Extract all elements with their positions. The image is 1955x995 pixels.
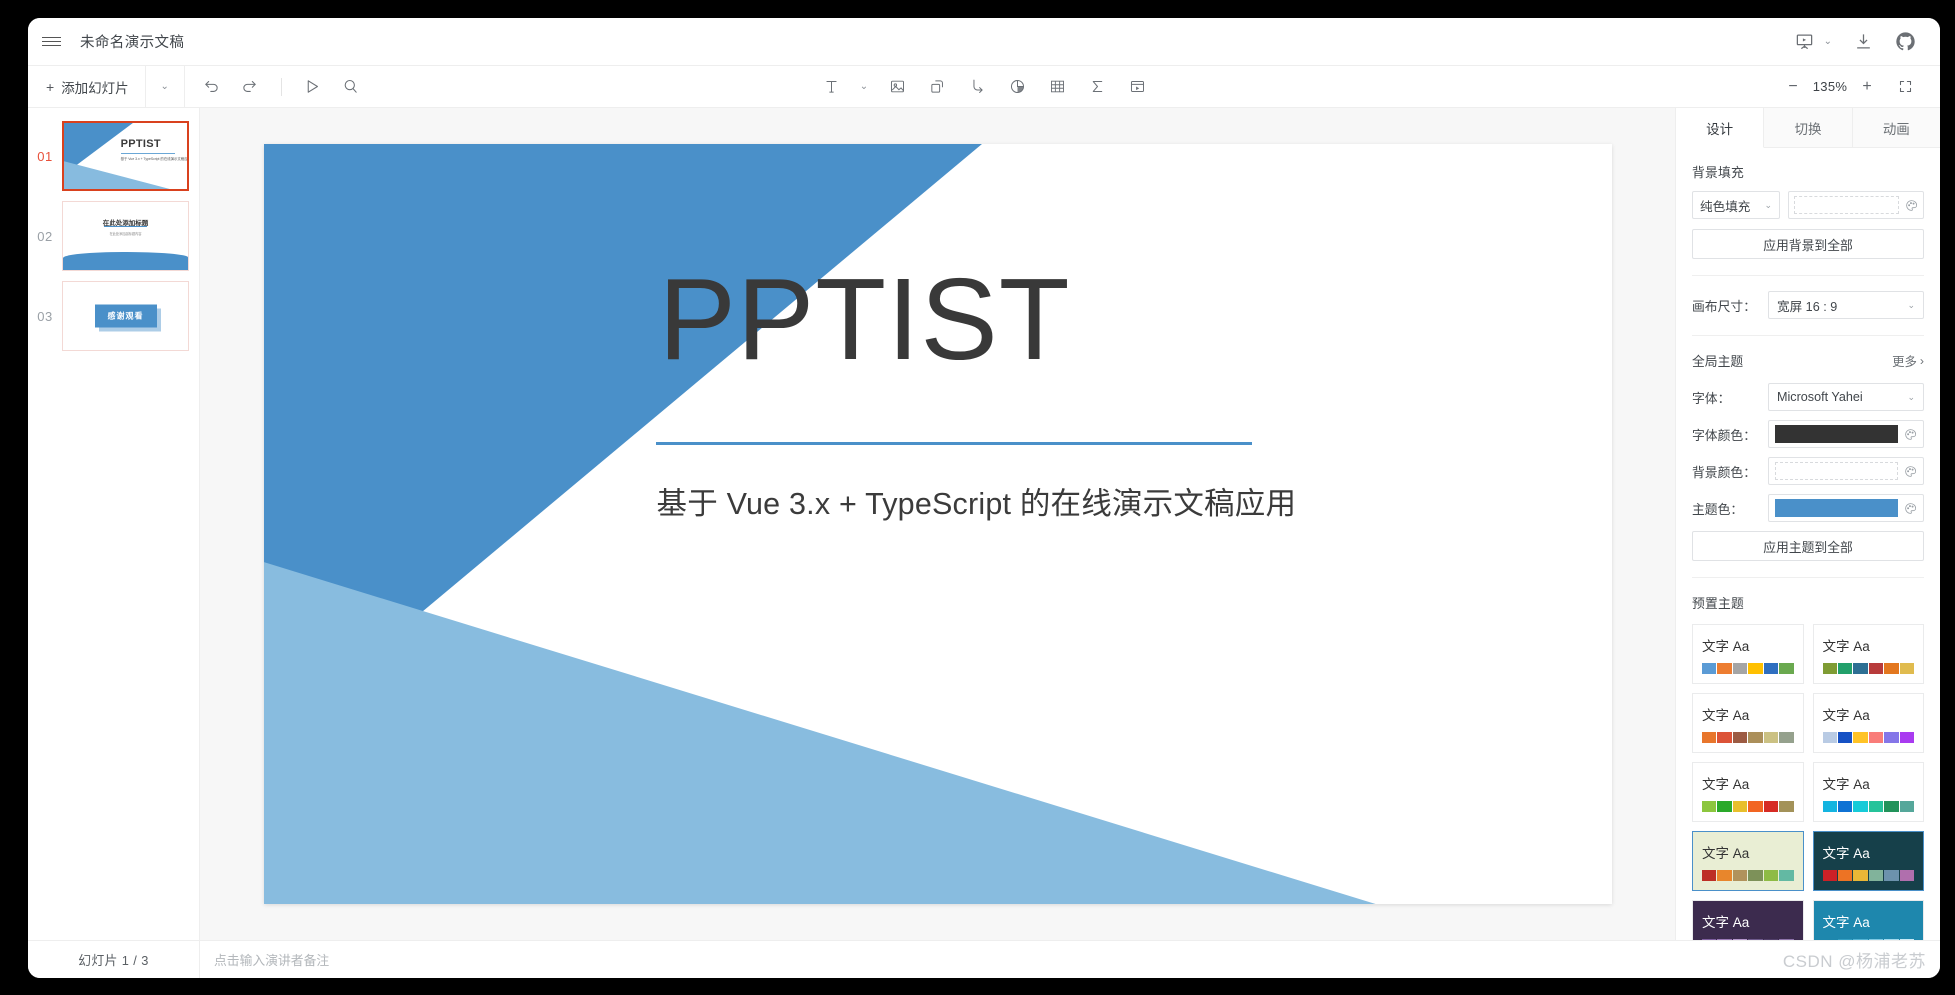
theme-font-label: 字体：	[1692, 388, 1768, 407]
color-swatch	[1869, 732, 1883, 743]
speaker-notes-input[interactable]: 点击输入演讲者备注	[200, 950, 1940, 969]
preset-theme-sample-text: 文字 Aa	[1823, 704, 1915, 724]
preset-theme-color-swatches	[1823, 732, 1915, 743]
color-palette-icon[interactable]	[1903, 502, 1917, 515]
status-bar: 幻灯片 1 / 3 点击输入演讲者备注	[28, 940, 1940, 978]
color-swatch	[1853, 663, 1867, 674]
divider	[1692, 577, 1924, 578]
color-swatch	[1884, 801, 1898, 812]
slide-thumbnail-panel[interactable]: 01 PPTIST 基于 Vue 3.x + TypeScript 的在线演示文…	[28, 108, 200, 940]
preset-theme-sample-text: 文字 Aa	[1823, 635, 1915, 655]
slide-thumbnail-1[interactable]: 01 PPTIST 基于 Vue 3.x + TypeScript 的在线演示文…	[28, 116, 199, 196]
history-group	[185, 66, 368, 108]
color-swatch	[1853, 801, 1867, 812]
color-swatch	[1748, 732, 1762, 743]
preset-theme-color-swatches	[1702, 663, 1794, 674]
preset-theme-sample-text: 文字 Aa	[1823, 911, 1915, 931]
preset-theme-card[interactable]: 文字 Aa	[1813, 693, 1925, 753]
theme-font-color-label: 字体颜色：	[1692, 425, 1768, 444]
preset-theme-sample-text: 文字 Aa	[1823, 842, 1915, 862]
slide-thumbnail-3[interactable]: 03 感谢观看	[28, 276, 199, 356]
color-swatch	[1869, 663, 1883, 674]
app-header: 未命名演示文稿 ⌄	[28, 18, 1940, 66]
canvas-size-value: 宽屏 16 : 9	[1777, 296, 1837, 315]
header-actions: ⌄	[1794, 31, 1926, 53]
color-swatch	[1884, 870, 1898, 881]
add-slide-label: 添加幻灯片	[61, 77, 129, 97]
preset-theme-card[interactable]: 文字 Aa	[1692, 624, 1804, 684]
slide-subtitle-text[interactable]: 基于 Vue 3.x + TypeScript 的在线演示文稿应用	[657, 479, 1297, 523]
chevron-down-icon: ⌄	[1764, 200, 1772, 211]
preset-theme-color-swatches	[1702, 939, 1794, 940]
color-swatch	[1764, 939, 1778, 940]
color-palette-icon[interactable]	[1903, 465, 1917, 478]
hamburger-icon[interactable]	[28, 18, 74, 66]
undo-arrow-icon[interactable]	[195, 66, 229, 108]
theme-font-select[interactable]: Microsoft Yahei ⌄	[1768, 383, 1924, 411]
slide-thumbnail-preview[interactable]: PPTIST 基于 Vue 3.x + TypeScript 的在线演示文稿应用	[62, 121, 189, 191]
theme-accent-color-label: 主题色：	[1692, 499, 1768, 518]
plus-icon: +	[46, 79, 54, 95]
color-swatch	[1733, 939, 1747, 940]
color-swatch	[1717, 939, 1731, 940]
color-swatch	[1838, 870, 1852, 881]
canvas-area[interactable]: PPTIST 基于 Vue 3.x + TypeScript 的在线演示文稿应用	[200, 108, 1675, 940]
color-swatch	[1838, 801, 1852, 812]
zoom-out-button[interactable]: −	[1780, 74, 1806, 100]
background-fill-type-select[interactable]: 纯色填充 ⌄	[1692, 191, 1780, 219]
color-swatch	[1900, 732, 1914, 743]
color-swatch	[1702, 801, 1716, 812]
slide-number: 01	[28, 149, 62, 164]
preset-theme-color-swatches	[1702, 870, 1794, 881]
preset-themes-label: 预置主题	[1692, 593, 1924, 612]
preset-theme-card[interactable]: 文字 Aa	[1813, 831, 1925, 891]
design-panel-content: 背景填充 纯色填充 ⌄	[1676, 148, 1940, 940]
theme-bg-color-label: 背景颜色：	[1692, 462, 1768, 481]
theme-font-color-picker[interactable]	[1768, 420, 1924, 448]
main-toolbar: + 添加幻灯片 ⌄	[28, 66, 1940, 108]
zoom-level-value[interactable]: 135%	[1810, 79, 1850, 94]
slide-title-text[interactable]: PPTIST	[659, 256, 1071, 384]
divider	[1692, 335, 1924, 336]
color-swatch	[1838, 732, 1852, 743]
color-palette-icon[interactable]	[1904, 199, 1918, 212]
table-grid-icon[interactable]	[1044, 66, 1070, 108]
color-swatch	[1764, 801, 1778, 812]
color-swatch	[1823, 870, 1837, 881]
media-video-icon[interactable]	[1124, 66, 1150, 108]
theme-accent-color-swatch	[1775, 499, 1898, 517]
preset-theme-color-swatches	[1823, 939, 1915, 940]
play-triangle-icon[interactable]	[296, 66, 330, 108]
present-dropdown-chevron-icon[interactable]: ⌄	[1824, 36, 1832, 47]
toolbar-divider	[281, 78, 282, 96]
zoom-controls: − 135% +	[1780, 74, 1940, 100]
preset-theme-color-swatches	[1823, 801, 1915, 812]
preset-theme-sample-text: 文字 Aa	[1702, 635, 1794, 655]
color-swatch	[1884, 732, 1898, 743]
github-icon[interactable]	[1894, 31, 1916, 53]
line-arrow-icon[interactable]	[964, 66, 990, 108]
add-slide-button[interactable]: + 添加幻灯片	[28, 66, 145, 108]
color-swatch	[1884, 663, 1898, 674]
tab-design[interactable]: 设计	[1676, 108, 1764, 148]
thumb-rule	[121, 153, 175, 154]
zoom-in-button[interactable]: +	[1854, 74, 1880, 100]
color-swatch	[1779, 939, 1793, 940]
insert-tools-group: ⌄	[818, 66, 1150, 108]
preset-theme-sample-text: 文字 Aa	[1702, 911, 1794, 931]
color-swatch	[1717, 732, 1731, 743]
color-swatch	[1733, 663, 1747, 674]
background-fill-type-value: 纯色填充	[1700, 196, 1750, 215]
apply-background-to-all-button[interactable]: 应用背景到全部	[1692, 229, 1924, 259]
color-swatch	[1702, 732, 1716, 743]
slide-divider-line[interactable]	[656, 442, 1252, 445]
preset-theme-sample-text: 文字 Aa	[1702, 704, 1794, 724]
thumb-subtitle: 基于 Vue 3.x + TypeScript 的在线演示文稿应用	[121, 156, 189, 161]
theme-bg-color-picker[interactable]	[1768, 457, 1924, 485]
theme-bg-color-row: 背景颜色：	[1692, 457, 1924, 485]
fullscreen-fit-icon[interactable]	[1892, 74, 1918, 100]
color-swatch	[1779, 801, 1793, 812]
text-dropdown-chevron-icon[interactable]: ⌄	[858, 66, 870, 108]
color-swatch	[1733, 801, 1747, 812]
color-swatch	[1748, 870, 1762, 881]
color-swatch	[1900, 663, 1914, 674]
slide-thumbnail-preview[interactable]: 感谢观看	[62, 281, 189, 351]
background-fill-label: 背景填充	[1692, 162, 1924, 181]
color-swatch	[1748, 801, 1762, 812]
theme-bg-color-swatch	[1775, 462, 1898, 480]
preset-theme-sample-text: 文字 Aa	[1823, 773, 1915, 793]
chevron-down-icon: ⌄	[1907, 392, 1915, 403]
download-icon[interactable]	[1852, 31, 1874, 53]
color-swatch	[1869, 939, 1883, 940]
sigma-formula-icon[interactable]	[1084, 66, 1110, 108]
color-swatch	[1717, 663, 1731, 674]
color-swatch	[1900, 939, 1914, 940]
color-swatch	[1779, 732, 1793, 743]
preset-theme-sample-text: 文字 Aa	[1702, 773, 1794, 793]
theme-font-row: 字体： Microsoft Yahei ⌄	[1692, 383, 1924, 411]
background-fill-row: 纯色填充 ⌄	[1692, 191, 1924, 219]
color-swatch	[1823, 801, 1837, 812]
color-swatch	[1853, 939, 1867, 940]
color-swatch	[1869, 870, 1883, 881]
canvas-size-select[interactable]: 宽屏 16 : 9 ⌄	[1768, 291, 1924, 319]
search-magnifier-icon[interactable]	[334, 66, 368, 108]
divider	[1692, 275, 1924, 276]
color-swatch	[1702, 663, 1716, 674]
theme-font-color-row: 字体颜色：	[1692, 420, 1924, 448]
color-swatch	[1900, 801, 1914, 812]
thumb-title: 感谢观看	[95, 305, 157, 328]
pie-chart-icon[interactable]	[1004, 66, 1030, 108]
tab-animation[interactable]: 动画	[1853, 108, 1940, 147]
theme-font-color-swatch	[1775, 425, 1898, 443]
color-swatch	[1779, 870, 1793, 881]
slide-thumbnail-2[interactable]: 02 在此处添加标题 在此处添加副标题内容	[28, 196, 199, 276]
theme-font-value: Microsoft Yahei	[1777, 390, 1863, 404]
color-swatch	[1823, 663, 1837, 674]
slide-canvas[interactable]: PPTIST 基于 Vue 3.x + TypeScript 的在线演示文稿应用	[264, 144, 1612, 904]
color-swatch	[1764, 663, 1778, 674]
shapes-icon[interactable]	[924, 66, 950, 108]
slide-counter[interactable]: 幻灯片 1 / 3	[28, 941, 200, 979]
color-swatch	[1702, 939, 1716, 940]
color-swatch	[1838, 663, 1852, 674]
preset-theme-color-swatches	[1823, 663, 1915, 674]
slide-number: 03	[28, 309, 62, 324]
color-swatch	[1764, 870, 1778, 881]
color-swatch	[1733, 870, 1747, 881]
color-swatch	[1884, 939, 1898, 940]
global-theme-label: 全局主题	[1692, 351, 1743, 370]
preset-themes-grid: 文字 Aa文字 Aa文字 Aa文字 Aa文字 Aa文字 Aa文字 Aa文字 Aa…	[1692, 624, 1924, 940]
theme-accent-color-picker[interactable]	[1768, 494, 1924, 522]
color-swatch	[1900, 870, 1914, 881]
preset-theme-sample-text: 文字 Aa	[1702, 842, 1794, 862]
thumb-title: 在此处添加标题	[63, 217, 188, 227]
global-theme-more-button[interactable]: 更多 ›	[1892, 352, 1924, 370]
preset-theme-card[interactable]: 文字 Aa	[1813, 624, 1925, 684]
slide-thumbnail-preview[interactable]: 在此处添加标题 在此处添加副标题内容	[62, 201, 189, 271]
present-screen-icon[interactable]	[1794, 31, 1816, 53]
slide-number: 02	[28, 229, 62, 244]
color-swatch	[1823, 939, 1837, 940]
right-side-panel: 设计 切换 动画 背景填充 纯色填充 ⌄	[1675, 108, 1940, 940]
document-title[interactable]: 未命名演示文稿	[74, 31, 184, 52]
color-swatch	[1733, 732, 1747, 743]
thumb-rule	[104, 226, 147, 227]
preset-theme-card[interactable]: 文字 Aa	[1692, 693, 1804, 753]
preset-theme-color-swatches	[1702, 801, 1794, 812]
app-window: 未命名演示文稿 ⌄ + 添加幻灯	[28, 18, 1940, 978]
preset-theme-color-swatches	[1702, 732, 1794, 743]
color-swatch	[1869, 801, 1883, 812]
thumb-subtitle: 在此处添加副标题内容	[63, 231, 188, 236]
app-body: 01 PPTIST 基于 Vue 3.x + TypeScript 的在线演示文…	[28, 108, 1940, 940]
preset-theme-card[interactable]: 文字 Aa	[1692, 900, 1804, 940]
thumb-shape-wave	[63, 252, 188, 270]
color-swatch	[1748, 939, 1762, 940]
image-icon[interactable]	[884, 66, 910, 108]
color-swatch	[1853, 870, 1867, 881]
canvas-size-row: 画布尺寸： 宽屏 16 : 9 ⌄	[1692, 291, 1924, 319]
color-swatch	[1853, 732, 1867, 743]
chevron-right-icon: ›	[1920, 354, 1924, 368]
preset-theme-color-swatches	[1823, 870, 1915, 881]
preset-theme-card[interactable]: 文字 Aa	[1692, 762, 1804, 822]
chevron-down-icon: ⌄	[1907, 300, 1915, 311]
thumb-title: PPTIST	[121, 138, 161, 150]
color-palette-icon[interactable]	[1903, 428, 1917, 441]
more-label: 更多	[1892, 352, 1917, 370]
preset-theme-card[interactable]: 文字 Aa	[1813, 900, 1925, 940]
color-swatch	[1702, 870, 1716, 881]
text-T-icon[interactable]	[818, 66, 844, 108]
tab-transition[interactable]: 切换	[1764, 108, 1852, 147]
color-swatch	[1779, 663, 1793, 674]
theme-accent-color-row: 主题色：	[1692, 494, 1924, 522]
panel-tabs: 设计 切换 动画	[1676, 108, 1940, 148]
color-swatch	[1838, 939, 1852, 940]
background-color-picker[interactable]	[1788, 191, 1924, 219]
color-swatch	[1764, 732, 1778, 743]
color-swatch	[1748, 663, 1762, 674]
preset-theme-card[interactable]: 文字 Aa	[1692, 831, 1804, 891]
add-slide-dropdown-chevron-icon[interactable]: ⌄	[146, 66, 184, 108]
redo-arrow-icon[interactable]	[233, 66, 267, 108]
color-swatch	[1717, 801, 1731, 812]
color-swatch	[1717, 870, 1731, 881]
color-swatch	[1823, 732, 1837, 743]
global-theme-header: 全局主题 更多 ›	[1692, 351, 1924, 370]
canvas-size-label: 画布尺寸：	[1692, 296, 1768, 315]
preset-theme-card[interactable]: 文字 Aa	[1813, 762, 1925, 822]
apply-theme-to-all-button[interactable]: 应用主题到全部	[1692, 531, 1924, 561]
background-color-swatch	[1794, 196, 1899, 214]
